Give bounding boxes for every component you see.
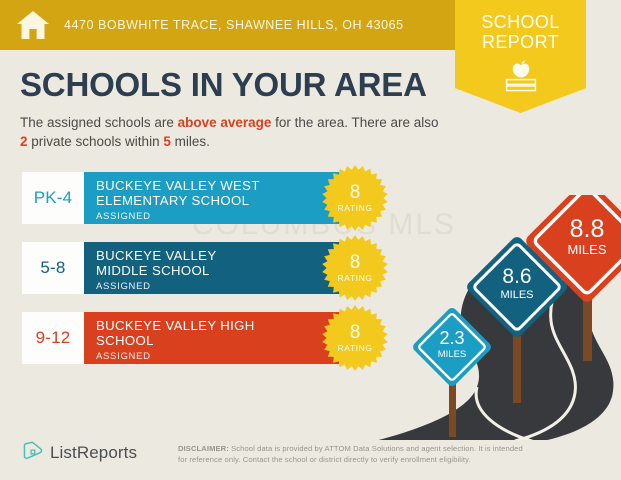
rating-value: 8: [350, 324, 361, 342]
grade-label: PK-4: [34, 188, 73, 208]
listreports-logo[interactable]: ListReports: [22, 440, 137, 466]
school-info-bar: BUCKEYE VALLEY HIGH SCHOOL ASSIGNED: [84, 312, 362, 364]
school-info-bar: BUCKEYE VALLEY MIDDLE SCHOOL ASSIGNED: [84, 242, 362, 294]
svg-text:8.6: 8.6: [502, 265, 531, 288]
banner-line-2: REPORT: [455, 32, 586, 52]
school-row[interactable]: 9-12 BUCKEYE VALLEY HIGH SCHOOL ASSIGNED…: [22, 312, 362, 364]
svg-text:8.8: 8.8: [570, 215, 605, 243]
svg-text:2.3: 2.3: [439, 328, 464, 348]
school-row[interactable]: PK-4 BUCKEYE VALLEY WEST ELEMENTARY SCHO…: [22, 172, 362, 224]
school-row[interactable]: 5-8 BUCKEYE VALLEY MIDDLE SCHOOL ASSIGNE…: [22, 242, 362, 294]
subtitle-part-1: The assigned schools are: [20, 115, 178, 130]
subtitle-part-3: private schools within: [28, 134, 164, 149]
home-icon: [16, 10, 50, 40]
grade-badge: PK-4: [22, 172, 84, 224]
page-title: SCHOOLS IN YOUR AREA: [20, 66, 427, 104]
school-report-infographic: 4470 BOBWHITE TRACE, SHAWNEE HILLS, OH 4…: [0, 0, 621, 480]
school-report-banner: SCHOOL REPORT: [455, 0, 586, 113]
disclaimer-label: DISCLAIMER:: [178, 444, 229, 453]
banner-line-1: SCHOOL: [455, 12, 586, 32]
rating-value: 8: [350, 184, 361, 202]
disclaimer: DISCLAIMER: School data is provided by A…: [178, 444, 528, 465]
school-list: PK-4 BUCKEYE VALLEY WEST ELEMENTARY SCHO…: [22, 172, 362, 382]
page-subtitle: The assigned schools are above average f…: [20, 113, 440, 151]
svg-text:MILES: MILES: [500, 289, 533, 301]
grade-badge: 5-8: [22, 242, 84, 294]
svg-text:MILES: MILES: [567, 242, 606, 257]
listreports-house-logo-icon: [22, 440, 43, 466]
property-address: 4470 BOBWHITE TRACE, SHAWNEE HILLS, OH 4…: [64, 18, 404, 32]
subtitle-highlight-rating: above average: [178, 115, 272, 130]
header-address-bar: 4470 BOBWHITE TRACE, SHAWNEE HILLS, OH 4…: [0, 0, 463, 50]
subtitle-part-2: for the area. There are also: [271, 115, 438, 130]
listreports-logo-text: ListReports: [50, 443, 137, 463]
grade-label: 9-12: [36, 328, 71, 348]
svg-text:MILES: MILES: [438, 349, 467, 360]
grade-label: 5-8: [40, 258, 65, 278]
grade-badge: 9-12: [22, 312, 84, 364]
road-distance-illustration: 2.3 MILES 8.6 MILES 8.8 MILES: [365, 195, 621, 440]
school-info-bar: BUCKEYE VALLEY WEST ELEMENTARY SCHOOL AS…: [84, 172, 362, 224]
rating-value: 8: [350, 254, 361, 272]
subtitle-part-4: miles.: [171, 134, 210, 149]
disclaimer-text: School data is provided by ATTOM Data So…: [178, 444, 523, 464]
apple-on-books-icon: [455, 58, 586, 99]
subtitle-highlight-private-count: 2: [20, 134, 28, 149]
subtitle-highlight-radius: 5: [163, 134, 171, 149]
